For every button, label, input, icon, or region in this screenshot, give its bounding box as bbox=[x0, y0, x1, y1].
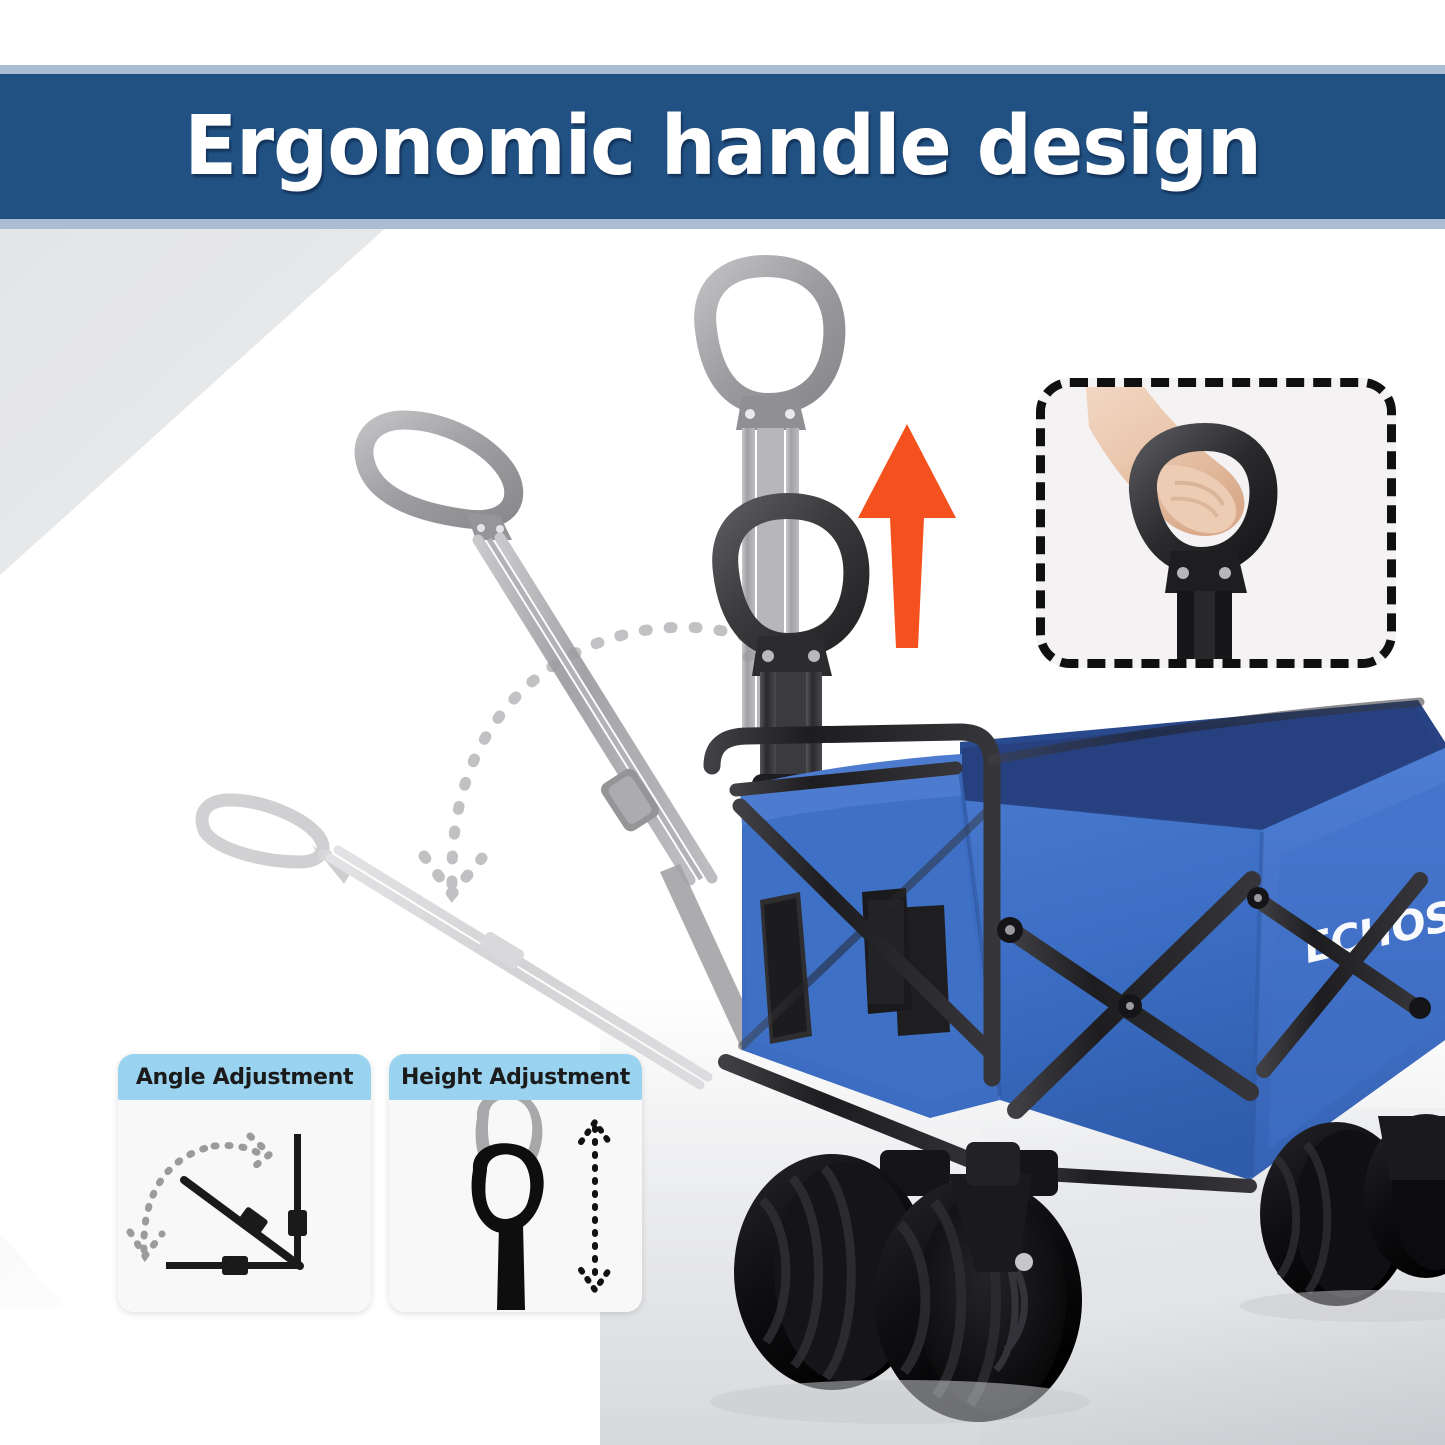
hand-grip-detail bbox=[1036, 378, 1396, 668]
height-increase-arrow bbox=[852, 418, 962, 648]
card-height-label: Height Adjustment bbox=[401, 1065, 630, 1090]
feature-cards: Angle Adjustment bbox=[118, 1054, 642, 1312]
card-angle-label: Angle Adjustment bbox=[136, 1065, 353, 1090]
card-angle-header: Angle Adjustment bbox=[118, 1054, 371, 1100]
angle-positions-icon bbox=[118, 1100, 371, 1312]
card-angle-adjustment[interactable]: Angle Adjustment bbox=[118, 1054, 371, 1312]
height-range-icon bbox=[389, 1100, 642, 1312]
card-height-adjustment[interactable]: Height Adjustment bbox=[389, 1054, 642, 1312]
page-title: Ergonomic handle design bbox=[184, 106, 1261, 188]
card-height-body bbox=[389, 1100, 642, 1312]
card-height-header: Height Adjustment bbox=[389, 1054, 642, 1100]
card-angle-body bbox=[118, 1100, 371, 1312]
floor-shadow-gradient-secondary bbox=[980, 1108, 1445, 1445]
banner: Ergonomic handle design bbox=[0, 65, 1445, 229]
product-feature-image: ECHOSM bbox=[0, 0, 1445, 1445]
